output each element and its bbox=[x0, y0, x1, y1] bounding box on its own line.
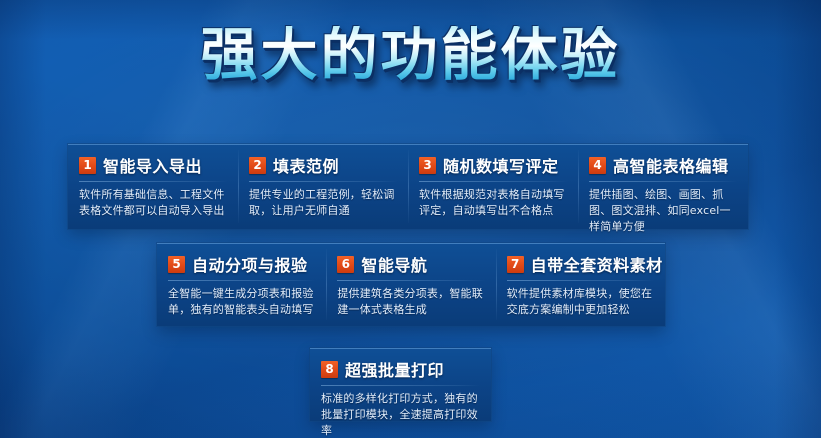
feature-card-2-title: 填表范例 bbox=[273, 153, 339, 177]
feature-card-5-divider bbox=[168, 280, 315, 281]
feature-card-1-title: 智能导入导出 bbox=[103, 153, 202, 177]
feature-row-2: 5 自动分项与报验 全智能一键生成分项表和报验单，独有的智能表头自动填写 6 智… bbox=[157, 243, 665, 326]
page-title: 强大的功能体验 bbox=[201, 26, 621, 86]
feature-card-3-number-badge: 3 bbox=[419, 157, 436, 174]
feature-card-4[interactable]: 4 高智能表格编辑 提供插图、绘图、画图、抓图、图文混排、如同excel一样简单… bbox=[578, 144, 748, 229]
feature-card-2-number-badge: 2 bbox=[249, 157, 266, 174]
feature-card-7-title: 自带全套资料素材 bbox=[531, 252, 663, 276]
feature-card-1-number-badge: 1 bbox=[79, 157, 96, 174]
feature-card-4-description: 提供插图、绘图、画图、抓图、图文混排、如同excel一样简单方便 bbox=[589, 187, 737, 235]
feature-card-5-description: 全智能一键生成分项表和报验单，独有的智能表头自动填写 bbox=[168, 286, 315, 318]
feature-card-8-title: 超强批量打印 bbox=[345, 357, 444, 381]
feature-card-2-divider bbox=[249, 181, 397, 182]
feature-card-6-header: 6 智能导航 bbox=[337, 252, 484, 276]
feature-card-7-number-badge: 7 bbox=[507, 256, 524, 273]
feature-card-2-header: 2 填表范例 bbox=[249, 153, 397, 177]
page-title-container: 强大的功能体验 bbox=[0, 26, 821, 86]
feature-card-4-title: 高智能表格编辑 bbox=[613, 153, 729, 177]
feature-card-2[interactable]: 2 填表范例 提供专业的工程范例，轻松调取，让用户无师自通 bbox=[238, 144, 408, 229]
feature-card-7-description: 软件提供素材库模块，使您在交底方案编制中更加轻松 bbox=[507, 286, 654, 318]
feature-card-7-divider bbox=[507, 280, 654, 281]
feature-card-6-divider bbox=[337, 280, 484, 281]
feature-card-1-description: 软件所有基础信息、工程文件表格文件都可以自动导入导出 bbox=[79, 187, 227, 219]
feature-card-4-divider bbox=[589, 181, 737, 182]
feature-card-3[interactable]: 3 随机数填写评定 软件根据规范对表格自动填写评定，自动填写出不合格点 bbox=[408, 144, 578, 229]
feature-card-1-divider bbox=[79, 181, 227, 182]
feature-card-1[interactable]: 1 智能导入导出 软件所有基础信息、工程文件表格文件都可以自动导入导出 bbox=[68, 144, 238, 229]
feature-card-8-number-badge: 8 bbox=[321, 361, 338, 378]
feature-card-7-header: 7 自带全套资料素材 bbox=[507, 252, 654, 276]
feature-card-8-divider bbox=[321, 385, 480, 386]
feature-card-8[interactable]: 8 超强批量打印 标准的多样化打印方式，独有的批量打印模块，全速提高打印效率 bbox=[310, 348, 491, 421]
feature-card-8-header: 8 超强批量打印 bbox=[321, 357, 480, 381]
feature-card-7[interactable]: 7 自带全套资料素材 软件提供素材库模块，使您在交底方案编制中更加轻松 bbox=[496, 243, 665, 326]
feature-card-5-number-badge: 5 bbox=[168, 256, 185, 273]
feature-card-3-divider bbox=[419, 181, 567, 182]
feature-card-3-title: 随机数填写评定 bbox=[443, 153, 559, 177]
feature-card-8-description: 标准的多样化打印方式，独有的批量打印模块，全速提高打印效率 bbox=[321, 391, 480, 438]
feature-card-5-header: 5 自动分项与报验 bbox=[168, 252, 315, 276]
feature-card-4-header: 4 高智能表格编辑 bbox=[589, 153, 737, 177]
feature-card-3-header: 3 随机数填写评定 bbox=[419, 153, 567, 177]
feature-card-6-number-badge: 6 bbox=[337, 256, 354, 273]
feature-row-3: 8 超强批量打印 标准的多样化打印方式，独有的批量打印模块，全速提高打印效率 bbox=[310, 348, 491, 421]
feature-showcase-banner: 强大的功能体验 1 智能导入导出 软件所有基础信息、工程文件表格文件都可以自动导… bbox=[0, 0, 821, 438]
feature-card-6-title: 智能导航 bbox=[361, 252, 427, 276]
feature-card-6[interactable]: 6 智能导航 提供建筑各类分项表，智能联建一体式表格生成 bbox=[326, 243, 495, 326]
feature-row-1: 1 智能导入导出 软件所有基础信息、工程文件表格文件都可以自动导入导出 2 填表… bbox=[68, 144, 748, 229]
feature-card-5-title: 自动分项与报验 bbox=[192, 252, 308, 276]
feature-card-2-description: 提供专业的工程范例，轻松调取，让用户无师自通 bbox=[249, 187, 397, 219]
feature-card-4-number-badge: 4 bbox=[589, 157, 606, 174]
feature-card-1-header: 1 智能导入导出 bbox=[79, 153, 227, 177]
feature-card-6-description: 提供建筑各类分项表，智能联建一体式表格生成 bbox=[337, 286, 484, 318]
feature-card-5[interactable]: 5 自动分项与报验 全智能一键生成分项表和报验单，独有的智能表头自动填写 bbox=[157, 243, 326, 326]
feature-card-3-description: 软件根据规范对表格自动填写评定，自动填写出不合格点 bbox=[419, 187, 567, 219]
